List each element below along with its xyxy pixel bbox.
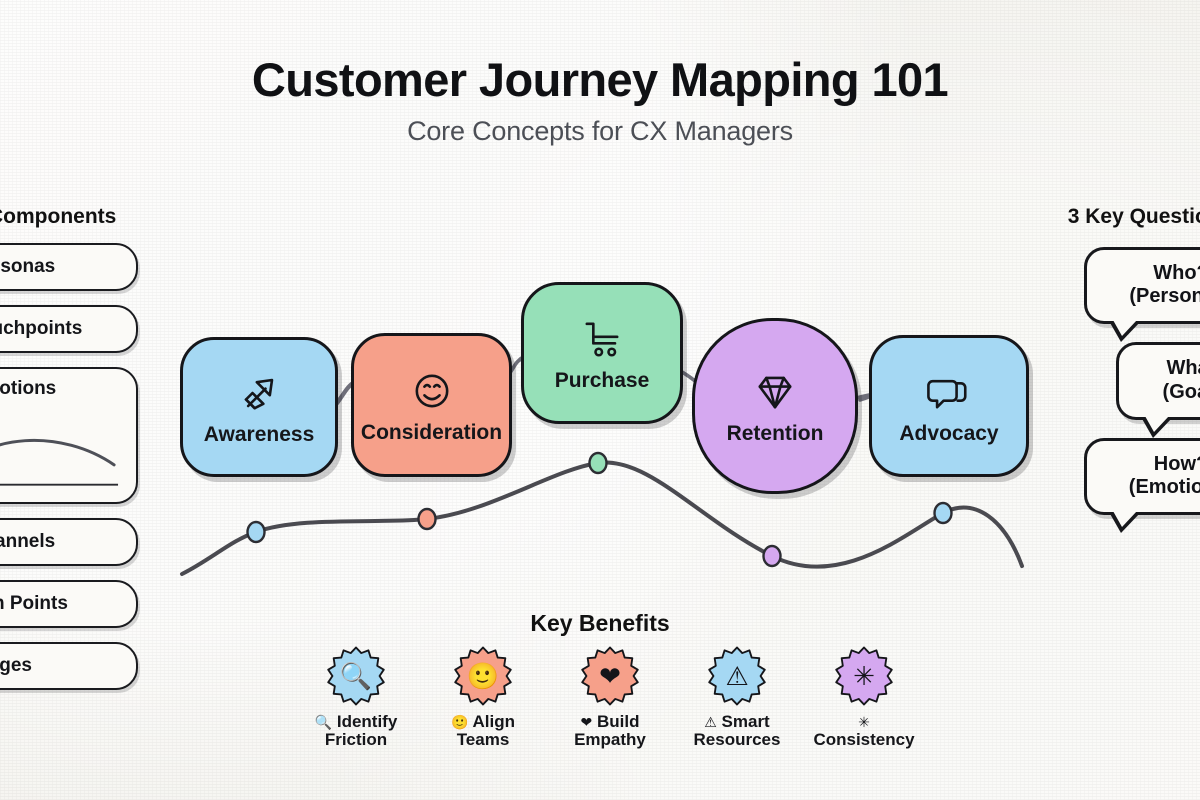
face-icon: 🙂	[452, 645, 514, 707]
benefit-item[interactable]: ✳✳ Consistency	[808, 645, 920, 749]
arrow-up-right-icon	[233, 367, 285, 419]
benefit-caption-icon: 🙂	[451, 714, 468, 730]
diamond-gem-icon	[749, 366, 801, 418]
journey-stage-label: Awareness	[204, 423, 315, 447]
benefit-caption-line1: Consistency	[813, 730, 914, 749]
journey-stage-card[interactable]: Purchase	[521, 282, 683, 424]
journey-stage-label: Purchase	[555, 369, 650, 393]
benefit-caption-line2: Empathy	[574, 730, 646, 749]
speech-bubbles-icon	[923, 366, 975, 418]
benefit-caption-icon: ⚠	[704, 714, 717, 730]
benefit-caption: ✳ Consistency	[808, 713, 920, 749]
benefit-caption-icon: ✳	[858, 714, 870, 730]
stage-icon-wrap	[749, 366, 801, 418]
benefit-caption-line2: Teams	[457, 730, 510, 749]
journey-stage-label: Consideration	[361, 421, 502, 445]
benefit-caption-line1: Identify	[332, 712, 397, 731]
journey-stage-card[interactable]: Consideration	[351, 333, 512, 477]
benefit-caption: ⚠ SmartResources	[694, 713, 781, 749]
benefit-caption-line2: Friction	[325, 730, 387, 749]
benefit-caption: 🙂 AlignTeams	[451, 713, 515, 749]
benefit-caption: 🔍 IdentifyFriction	[315, 713, 398, 749]
smiley-face-icon	[406, 365, 458, 417]
benefit-badge: 🔍	[325, 645, 387, 707]
benefit-badge: ⚠	[706, 645, 768, 707]
stage-icon-wrap	[923, 366, 975, 418]
benefits-title: Key Benefits	[0, 610, 1200, 637]
journey-stage-card[interactable]: Awareness	[180, 337, 338, 477]
journey-stage-card[interactable]: Retention	[692, 318, 858, 494]
journey-stage-card[interactable]: Advocacy	[869, 335, 1029, 477]
benefit-caption-icon: ❤	[581, 714, 593, 730]
benefit-caption-line1: Build	[592, 712, 639, 731]
benefit-caption-icon: 🔍	[315, 714, 332, 730]
benefit-item[interactable]: ❤❤ BuildEmpathy	[554, 645, 666, 749]
stage-icon-wrap	[406, 365, 458, 417]
benefits-list: 🔍🔍 IdentifyFriction🙂🙂 AlignTeams❤❤ Build…	[300, 645, 920, 749]
benefit-item[interactable]: ⚠⚠ SmartResources	[681, 645, 793, 749]
magnifier-icon: ✳	[833, 645, 895, 707]
benefit-item[interactable]: 🔍🔍 IdentifyFriction	[300, 645, 412, 749]
benefit-caption: ❤ BuildEmpathy	[574, 713, 646, 749]
shopping-cart-icon	[576, 313, 628, 365]
heart-icon: ❤	[579, 645, 641, 707]
warning-icon: ⚠	[706, 645, 768, 707]
benefit-item[interactable]: 🙂🙂 AlignTeams	[427, 645, 539, 749]
stage-icon-wrap	[576, 313, 628, 365]
journey-stage-label: Advocacy	[899, 422, 998, 446]
benefit-caption-line1: Align	[468, 712, 515, 731]
journey-stage-label: Retention	[727, 422, 824, 446]
magnifier-icon: 🔍	[325, 645, 387, 707]
benefit-caption-line2: Resources	[694, 730, 781, 749]
benefit-badge: ✳	[833, 645, 895, 707]
benefit-badge: ❤	[579, 645, 641, 707]
stage-icon-wrap	[233, 367, 285, 419]
benefit-caption-line1: Smart	[717, 712, 770, 731]
benefit-badge: 🙂	[452, 645, 514, 707]
